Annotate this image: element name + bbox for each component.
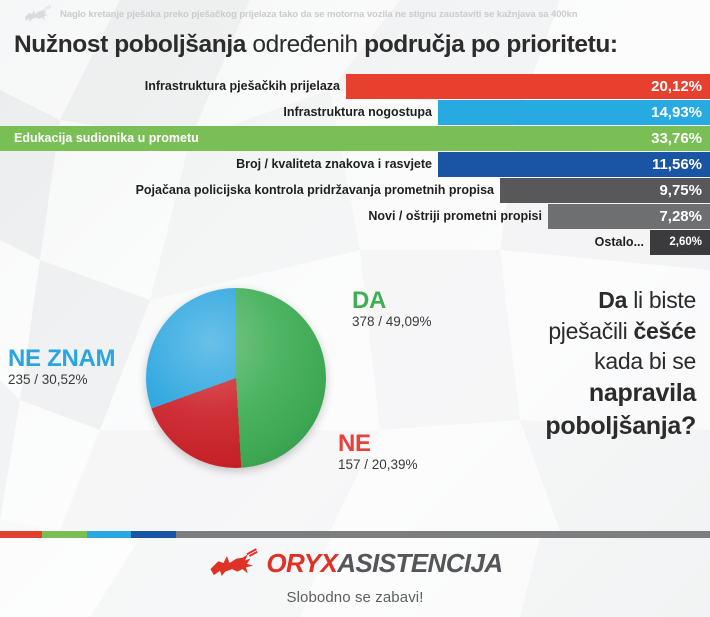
bar-category-label: Infrastruktura pješačkih prijelaza bbox=[145, 74, 346, 99]
bar-category-label: Broj / kvaliteta znakova i rasvjete bbox=[236, 152, 438, 177]
bar-value-label: 20,12% bbox=[651, 74, 702, 99]
bar-value-label: 2,60% bbox=[669, 230, 702, 255]
title-part-2: određenih bbox=[246, 31, 364, 58]
logo-asistencija-text: ASISTENCIJA bbox=[337, 548, 502, 578]
pie-label-ne-value: 157 / 20,39% bbox=[338, 457, 418, 473]
top-banner: Naglo kretanje pješaka preko pješačkog p… bbox=[0, 0, 710, 28]
question-line-3: kada bi se bbox=[436, 346, 696, 377]
infographic-page: Naglo kretanje pješaka preko pješačkog p… bbox=[0, 0, 710, 617]
question-line-1-rest: li biste bbox=[627, 287, 696, 313]
pie-label-da: DA 378 / 49,09% bbox=[352, 289, 432, 330]
priority-bar-chart: Infrastruktura pješačkih prijelaza20,12%… bbox=[0, 74, 710, 256]
divider-segment bbox=[131, 531, 176, 538]
oryx-antelope-logo-icon bbox=[207, 548, 259, 578]
pie-label-da-name: DA bbox=[352, 289, 432, 314]
divider-segment bbox=[87, 531, 131, 538]
question-line-1-bold: Da bbox=[598, 287, 627, 313]
pie-label-ne-znam-value: 235 / 30,52% bbox=[8, 372, 115, 388]
oryx-antelope-icon bbox=[22, 4, 52, 24]
title-part-3: područja po prioritetu: bbox=[364, 31, 617, 58]
pie-label-da-value: 378 / 49,09% bbox=[352, 314, 432, 330]
question-line-5: poboljšanja? bbox=[436, 410, 696, 443]
banner-text: Naglo kretanje pješaka preko pješačkog p… bbox=[60, 9, 577, 20]
bar-row: Edukacija sudionika u prometu33,76% bbox=[0, 126, 710, 151]
bar-row: Broj / kvaliteta znakova i rasvjete11,56… bbox=[0, 152, 710, 177]
pie-label-ne-znam-name: NE ZNAM bbox=[8, 347, 115, 372]
page-title: Nužnost poboljšanja određenih područja p… bbox=[14, 31, 618, 59]
divider-segment bbox=[176, 531, 710, 538]
title-part-1: Nužnost poboljšanja bbox=[14, 31, 246, 58]
pie-chart bbox=[146, 288, 326, 468]
question-line-2-bold: češće bbox=[634, 318, 696, 344]
pie-label-ne-znam: NE ZNAM 235 / 30,52% bbox=[8, 347, 115, 388]
bar-value-label: 11,56% bbox=[652, 152, 702, 177]
question-line-4: napravila bbox=[436, 377, 696, 410]
question-block: Da li biste pješačili češće kada bi se n… bbox=[436, 285, 696, 443]
divider-segment bbox=[42, 531, 87, 538]
bar-row: Ostalo...2,60% bbox=[0, 230, 710, 255]
footer-tagline: Slobodno se zabavi! bbox=[0, 589, 710, 606]
logo-wordmark: ORYXASISTENCIJA bbox=[266, 550, 502, 576]
bar-category-label: Infrastruktura nogostupa bbox=[283, 100, 438, 125]
footer: ORYXASISTENCIJA Slobodno se zabavi! bbox=[0, 548, 710, 606]
logo-oryx-text: ORYX bbox=[266, 548, 337, 578]
bar-row: Novi / oštriji prometni propisi7,28% bbox=[0, 204, 710, 229]
pie-label-ne-name: NE bbox=[338, 432, 418, 457]
question-line-2-pre: pješačili bbox=[548, 318, 633, 344]
bar-category-label: Pojačana policijska kontrola pridržavanj… bbox=[136, 178, 500, 203]
bar-category-label: Ostalo... bbox=[595, 230, 650, 255]
brand-logo: ORYXASISTENCIJA bbox=[0, 548, 710, 578]
bar-value-label: 7,28% bbox=[659, 204, 702, 229]
question-line-1: Da li biste bbox=[436, 285, 696, 316]
color-divider bbox=[0, 531, 710, 538]
bar-row: Infrastruktura nogostupa14,93% bbox=[0, 100, 710, 125]
bar-category-label: Edukacija sudionika u prometu bbox=[14, 126, 205, 151]
bar-value-label: 14,93% bbox=[651, 100, 702, 125]
bar-value-label: 9,75% bbox=[659, 178, 702, 203]
bar-category-label: Novi / oštriji prometni propisi bbox=[368, 204, 548, 229]
pie-label-ne: NE 157 / 20,39% bbox=[338, 432, 418, 473]
divider-segment bbox=[0, 531, 42, 538]
bar-value-label: 33,76% bbox=[651, 126, 702, 151]
bar-row: Infrastruktura pješačkih prijelaza20,12% bbox=[0, 74, 710, 99]
question-line-2: pješačili češće bbox=[436, 316, 696, 347]
pie-disc bbox=[146, 288, 326, 468]
bar-row: Pojačana policijska kontrola pridržavanj… bbox=[0, 178, 710, 203]
